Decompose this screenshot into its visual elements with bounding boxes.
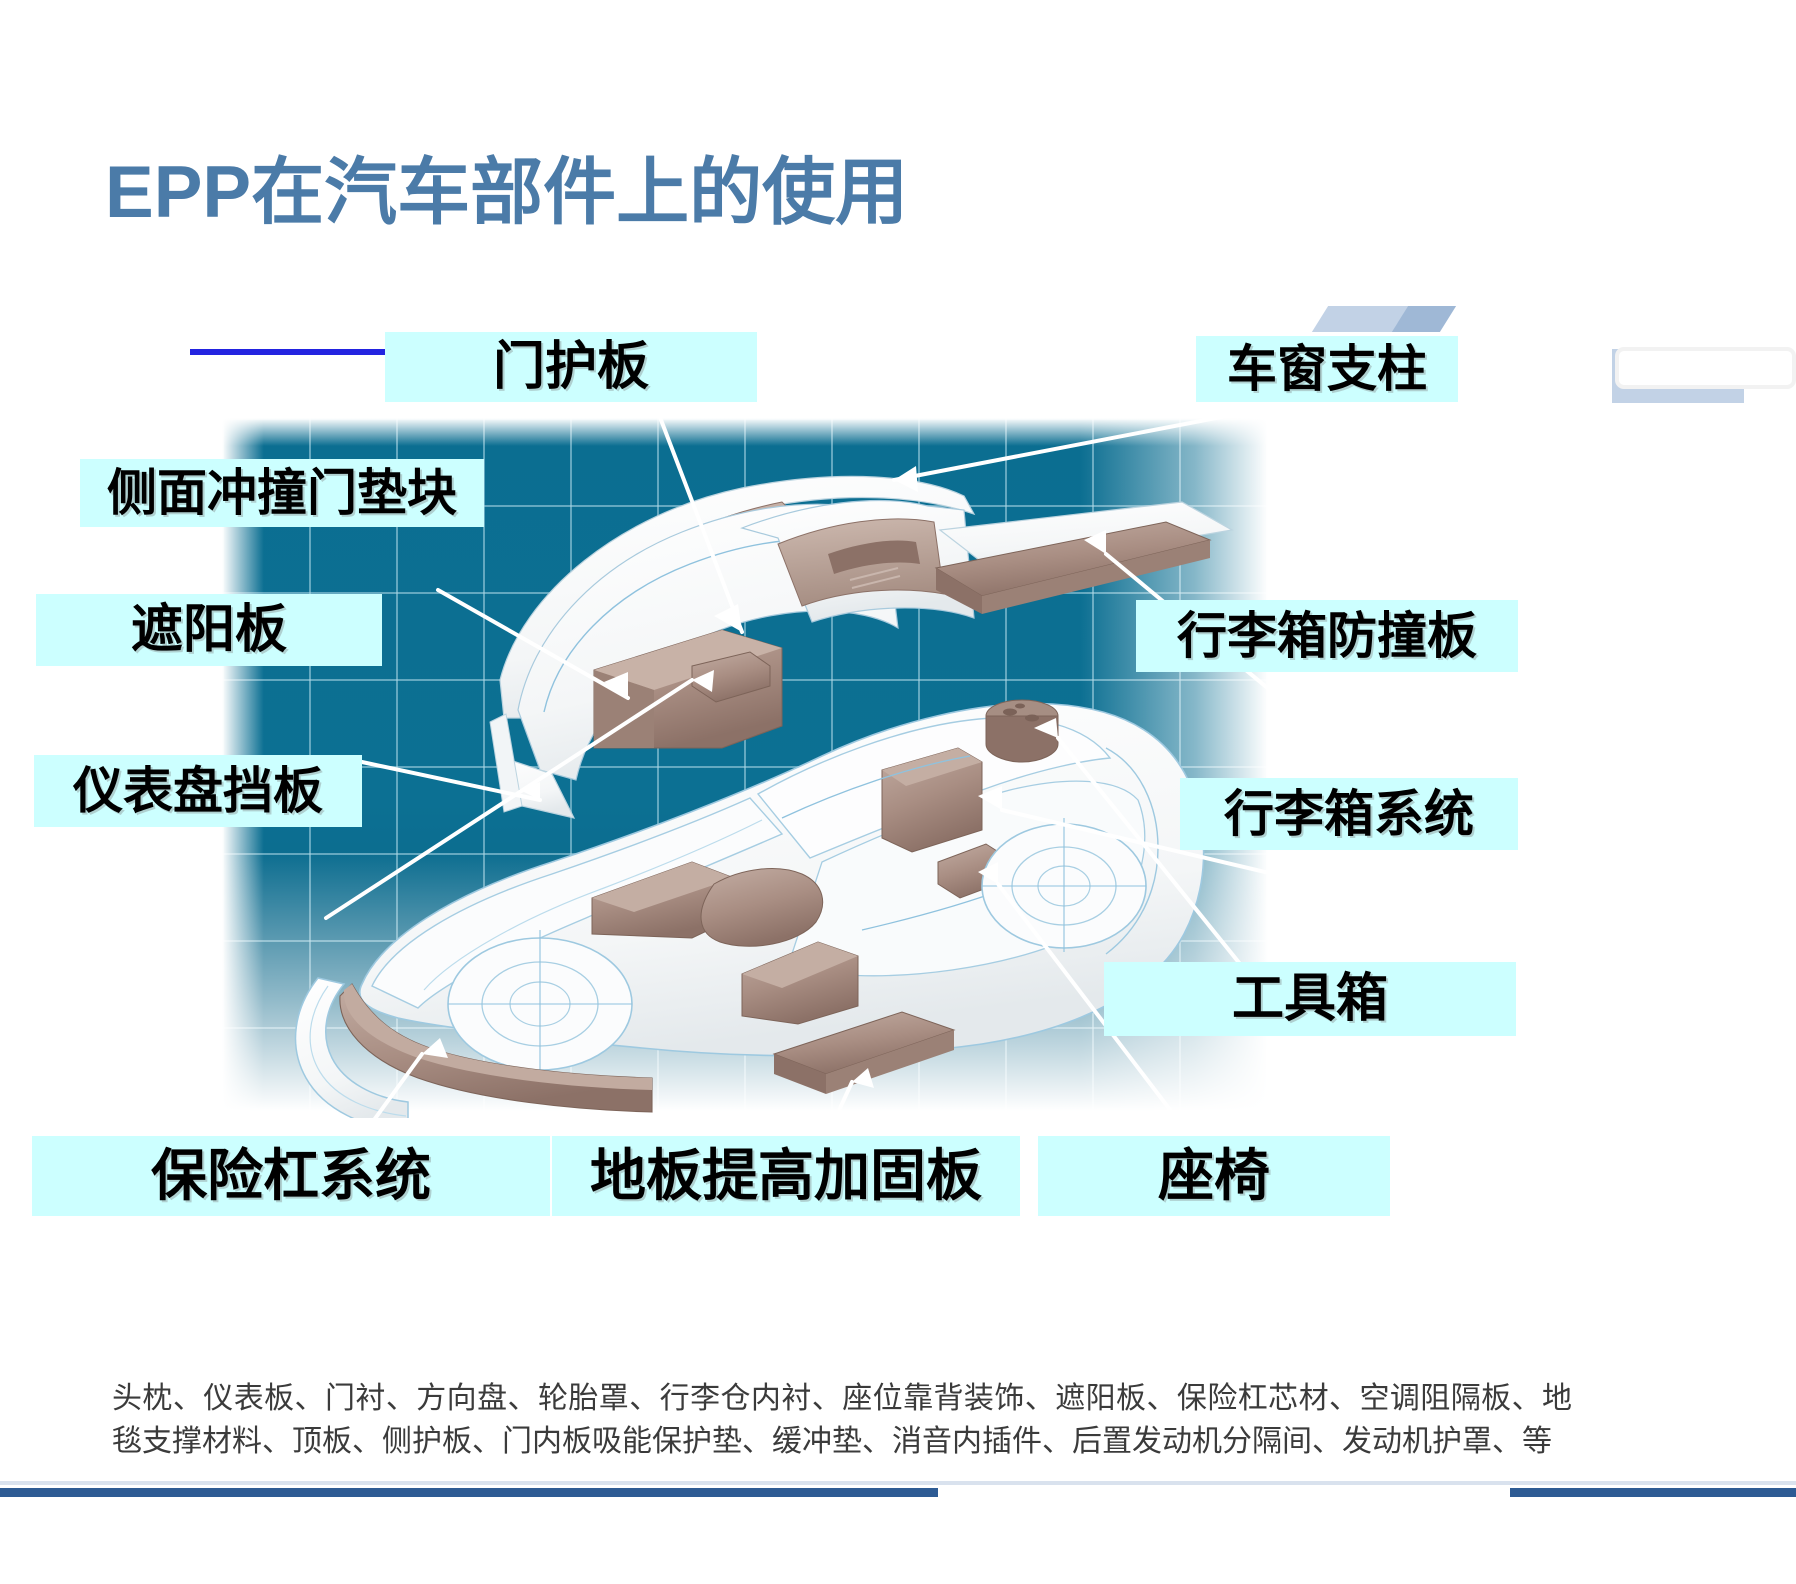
callout-side-impact-door-pad[interactable]: 侧面冲撞门垫块: [80, 459, 484, 527]
footer-thin-rule: [0, 1481, 1796, 1485]
page-title: EPP在汽车部件上的使用: [105, 133, 908, 239]
callout-door-trim-panel[interactable]: 门护板: [385, 332, 757, 402]
parts-footnote-text: 头枕、仪表板、门衬、方向盘、轮胎罩、行李仓内衬、座位靠背装饰、遮阳板、保险杠芯材…: [112, 1378, 1572, 1463]
trunk-panel-illustration: [936, 502, 1232, 614]
callout-window-pillar[interactable]: 车窗支柱: [1196, 336, 1458, 402]
callout-sun-visor[interactable]: 遮阳板: [36, 594, 382, 666]
decorative-rounded-box-icon: [1615, 347, 1796, 389]
callout-bumper-system[interactable]: 保险杠系统: [32, 1136, 550, 1216]
callout-trunk-anti-collision[interactable]: 行李箱防撞板: [1136, 600, 1518, 672]
callout-tool-box[interactable]: 工具箱: [1104, 962, 1516, 1036]
callout-trunk-system[interactable]: 行李箱系统: [1180, 778, 1518, 850]
callout-floor-raise-panel[interactable]: 地板提高加固板: [552, 1136, 1020, 1216]
callout-instrument-panel-guard[interactable]: 仪表盘挡板: [34, 755, 362, 827]
slide-canvas: EPP在汽车部件上的使用: [0, 0, 1796, 1584]
callout-seat[interactable]: 座椅: [1038, 1136, 1390, 1216]
footer-bar-left: [0, 1488, 938, 1497]
footer-bar-right: [1510, 1488, 1796, 1497]
